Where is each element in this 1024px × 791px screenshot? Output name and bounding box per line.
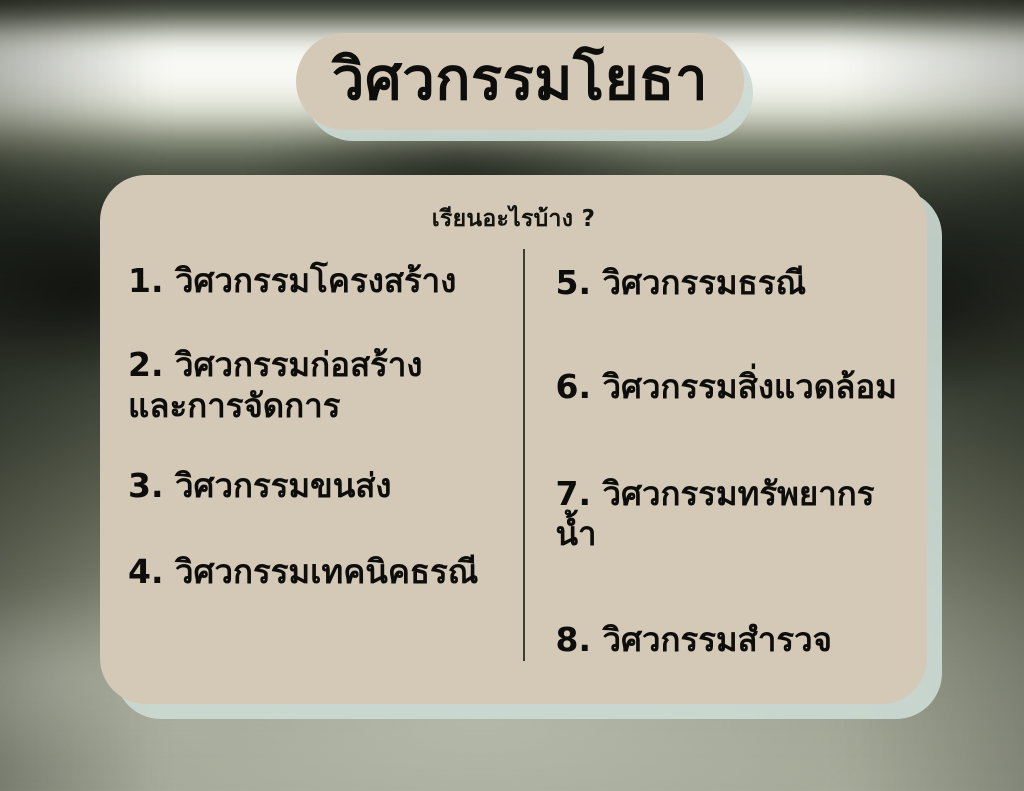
title-pill: วิศวกรรมโยธา [296,33,744,130]
content-card: เรียนอะไรบ้าง ? 1. วิศวกรรมโครงสร้าง 2. … [100,175,927,704]
poster-root: วิศวกรรมโยธา เรียนอะไรบ้าง ? 1. วิศวกรรม… [0,0,1024,791]
page-title: วิศวกรรมโยธา [332,50,708,114]
list-item: 6. วิศวกรรมสิ่งแวดล้อม [556,367,908,407]
disciplines-column-right: 5. วิศวกรรมธรณี 6. วิศวกรรมสิ่งแวดล้อม 7… [514,243,908,695]
list-item: 5. วิศวกรรมธรณี [556,263,908,303]
card-subtitle: เรียนอะไรบ้าง ? [120,201,907,237]
column-divider [523,249,525,661]
list-item: 3. วิศวกรรมขนส่ง [128,466,494,506]
disciplines-column-left: 1. วิศวกรรมโครงสร้าง 2. วิศวกรรมก่อสร้าง… [120,243,514,695]
disciplines-columns: 1. วิศวกรรมโครงสร้าง 2. วิศวกรรมก่อสร้าง… [120,243,907,695]
list-item: 1. วิศวกรรมโครงสร้าง [128,261,494,301]
list-item: 4. วิศวกรรมเทคนิคธรณี [128,552,494,592]
list-item: 8. วิศวกรรมสำรวจ [556,620,908,660]
list-item: 2. วิศวกรรมก่อสร้าง และการจัดการ [128,345,494,426]
list-item: 7. วิศวกรรมทรัพยากรน้ำ [556,474,908,555]
